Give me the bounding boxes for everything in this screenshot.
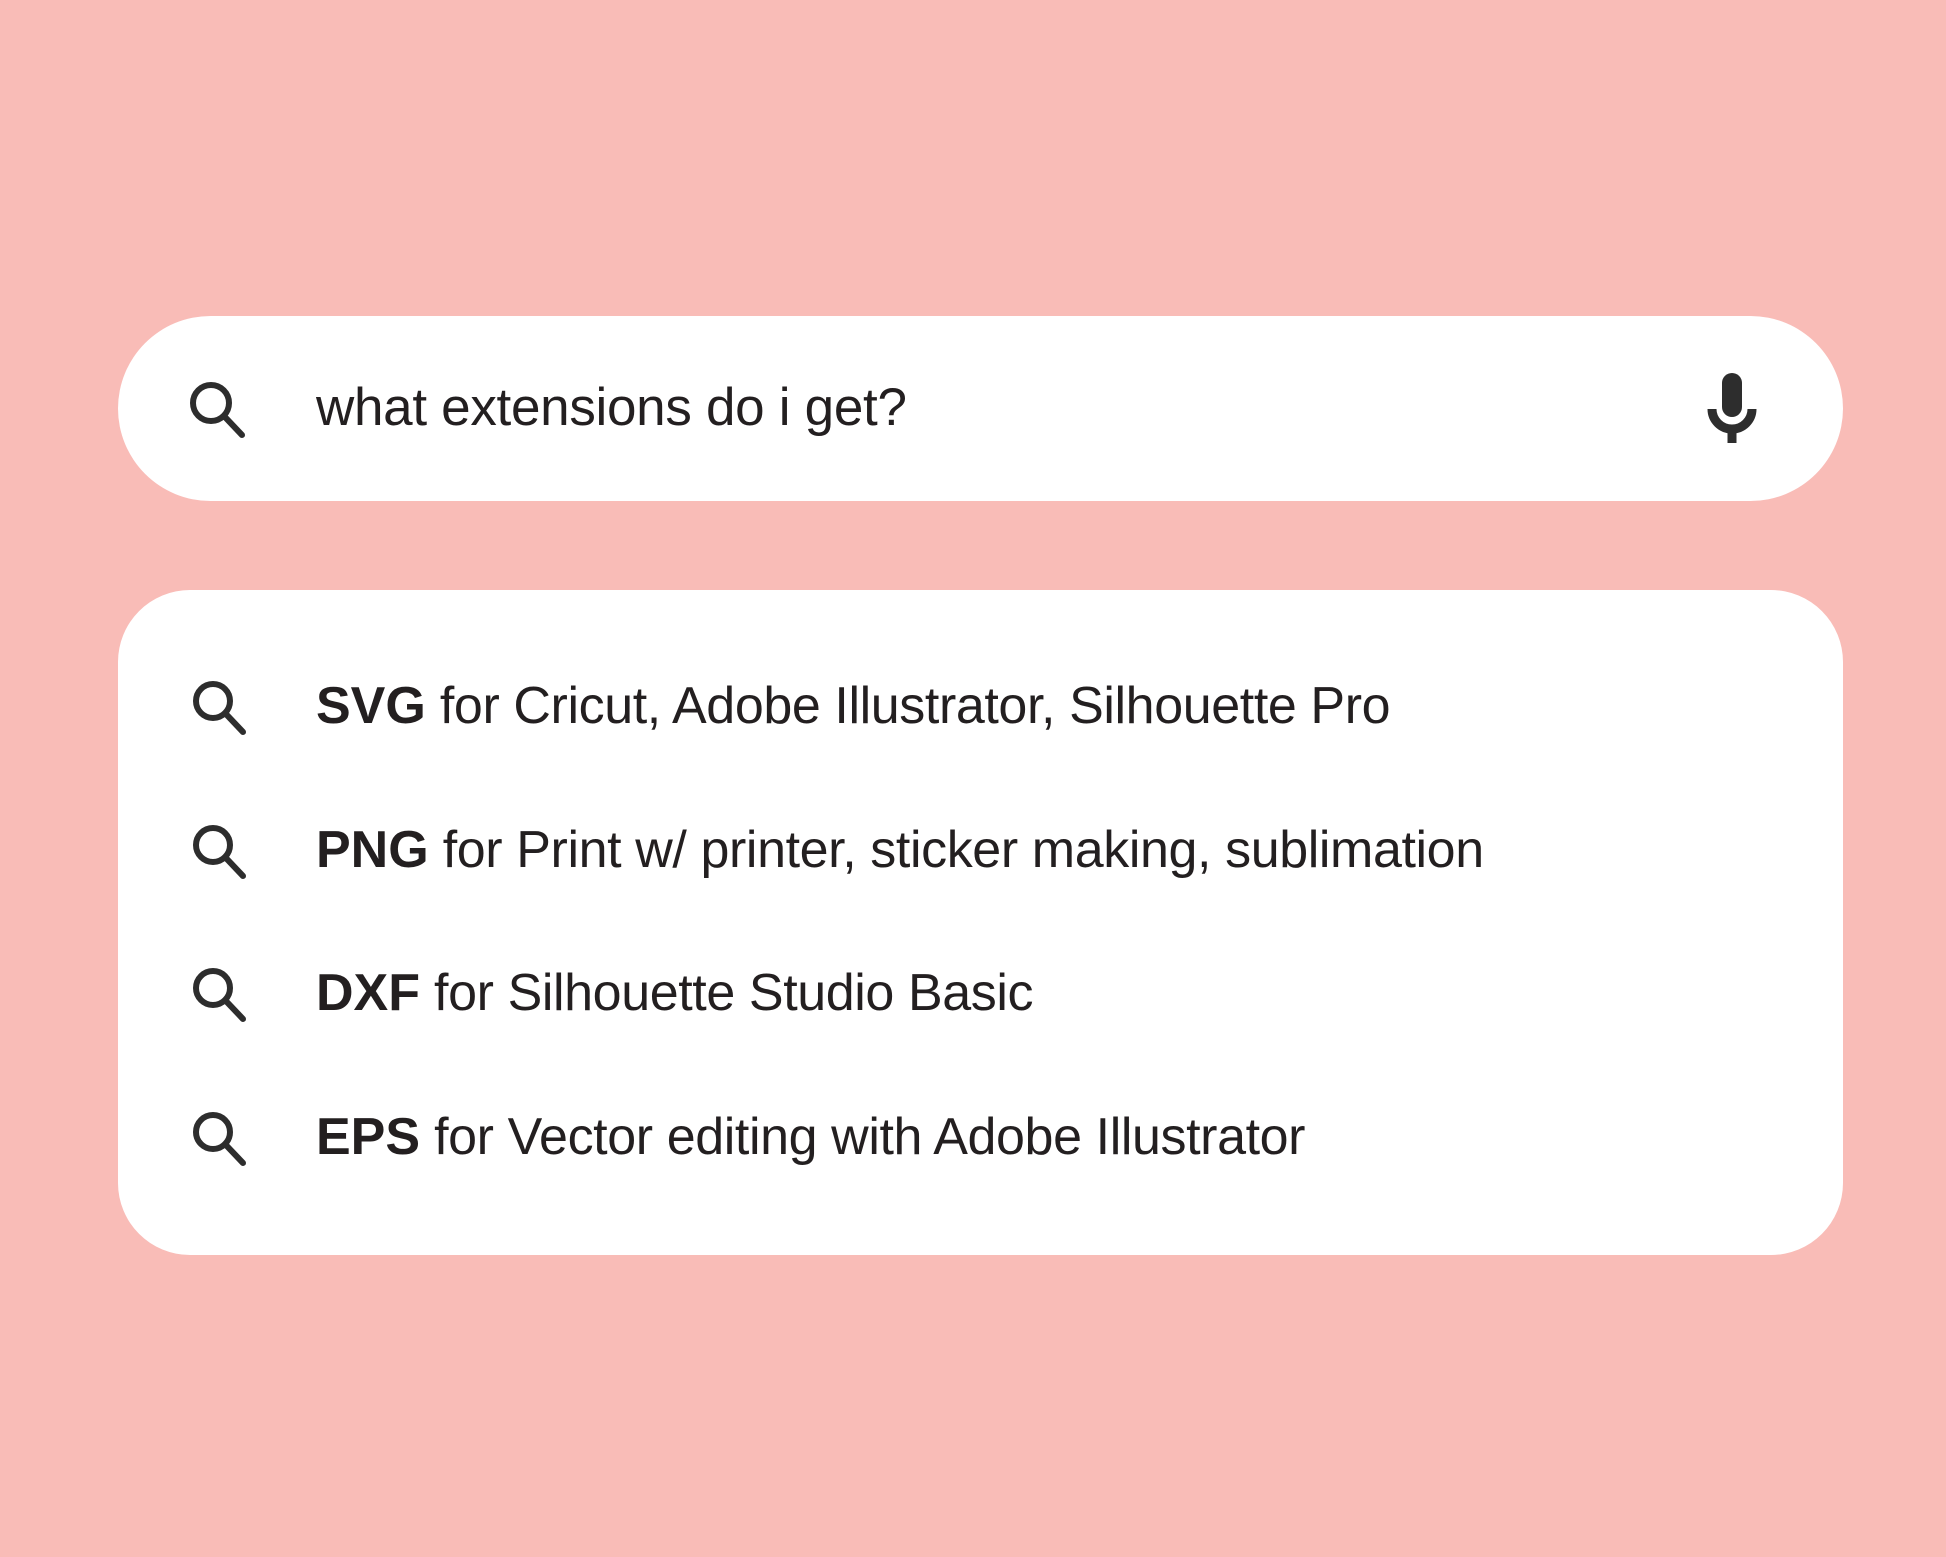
suggestion-description: for Print w/ printer, sticker making, su… bbox=[429, 821, 1484, 879]
search-icon bbox=[186, 378, 248, 440]
microphone-icon[interactable] bbox=[1699, 369, 1765, 449]
suggestion-row-svg[interactable]: SVG for Cricut, Adobe Illustrator, Silho… bbox=[118, 646, 1843, 768]
search-icon bbox=[190, 822, 248, 880]
page-background: what extensions do i get? SVG for Cricut… bbox=[0, 0, 1946, 1557]
search-input[interactable]: what extensions do i get? bbox=[316, 378, 1699, 439]
suggestion-description: for Cricut, Adobe Illustrator, Silhouett… bbox=[426, 677, 1390, 735]
suggestion-row-png[interactable]: PNG for Print w/ printer, sticker making… bbox=[118, 790, 1843, 912]
suggestion-row-eps[interactable]: EPS for Vector editing with Adobe Illust… bbox=[118, 1077, 1843, 1199]
suggestion-description: for Silhouette Studio Basic bbox=[420, 964, 1033, 1022]
suggestion-label: DXF for Silhouette Studio Basic bbox=[316, 964, 1033, 1024]
search-icon bbox=[190, 965, 248, 1023]
suggestions-card: SVG for Cricut, Adobe Illustrator, Silho… bbox=[118, 590, 1843, 1255]
search-icon bbox=[190, 1109, 248, 1167]
format-badge-svg: SVG bbox=[316, 677, 426, 735]
suggestion-label: EPS for Vector editing with Adobe Illust… bbox=[316, 1108, 1305, 1168]
suggestion-row-dxf[interactable]: DXF for Silhouette Studio Basic bbox=[118, 933, 1843, 1055]
search-icon bbox=[190, 678, 248, 736]
format-badge-eps: EPS bbox=[316, 1108, 420, 1166]
suggestion-label: PNG for Print w/ printer, sticker making… bbox=[316, 821, 1484, 881]
format-badge-dxf: DXF bbox=[316, 964, 420, 1022]
suggestion-label: SVG for Cricut, Adobe Illustrator, Silho… bbox=[316, 677, 1390, 737]
search-bar[interactable]: what extensions do i get? bbox=[118, 316, 1843, 501]
format-badge-png: PNG bbox=[316, 821, 429, 879]
suggestion-description: for Vector editing with Adobe Illustrato… bbox=[420, 1108, 1305, 1166]
